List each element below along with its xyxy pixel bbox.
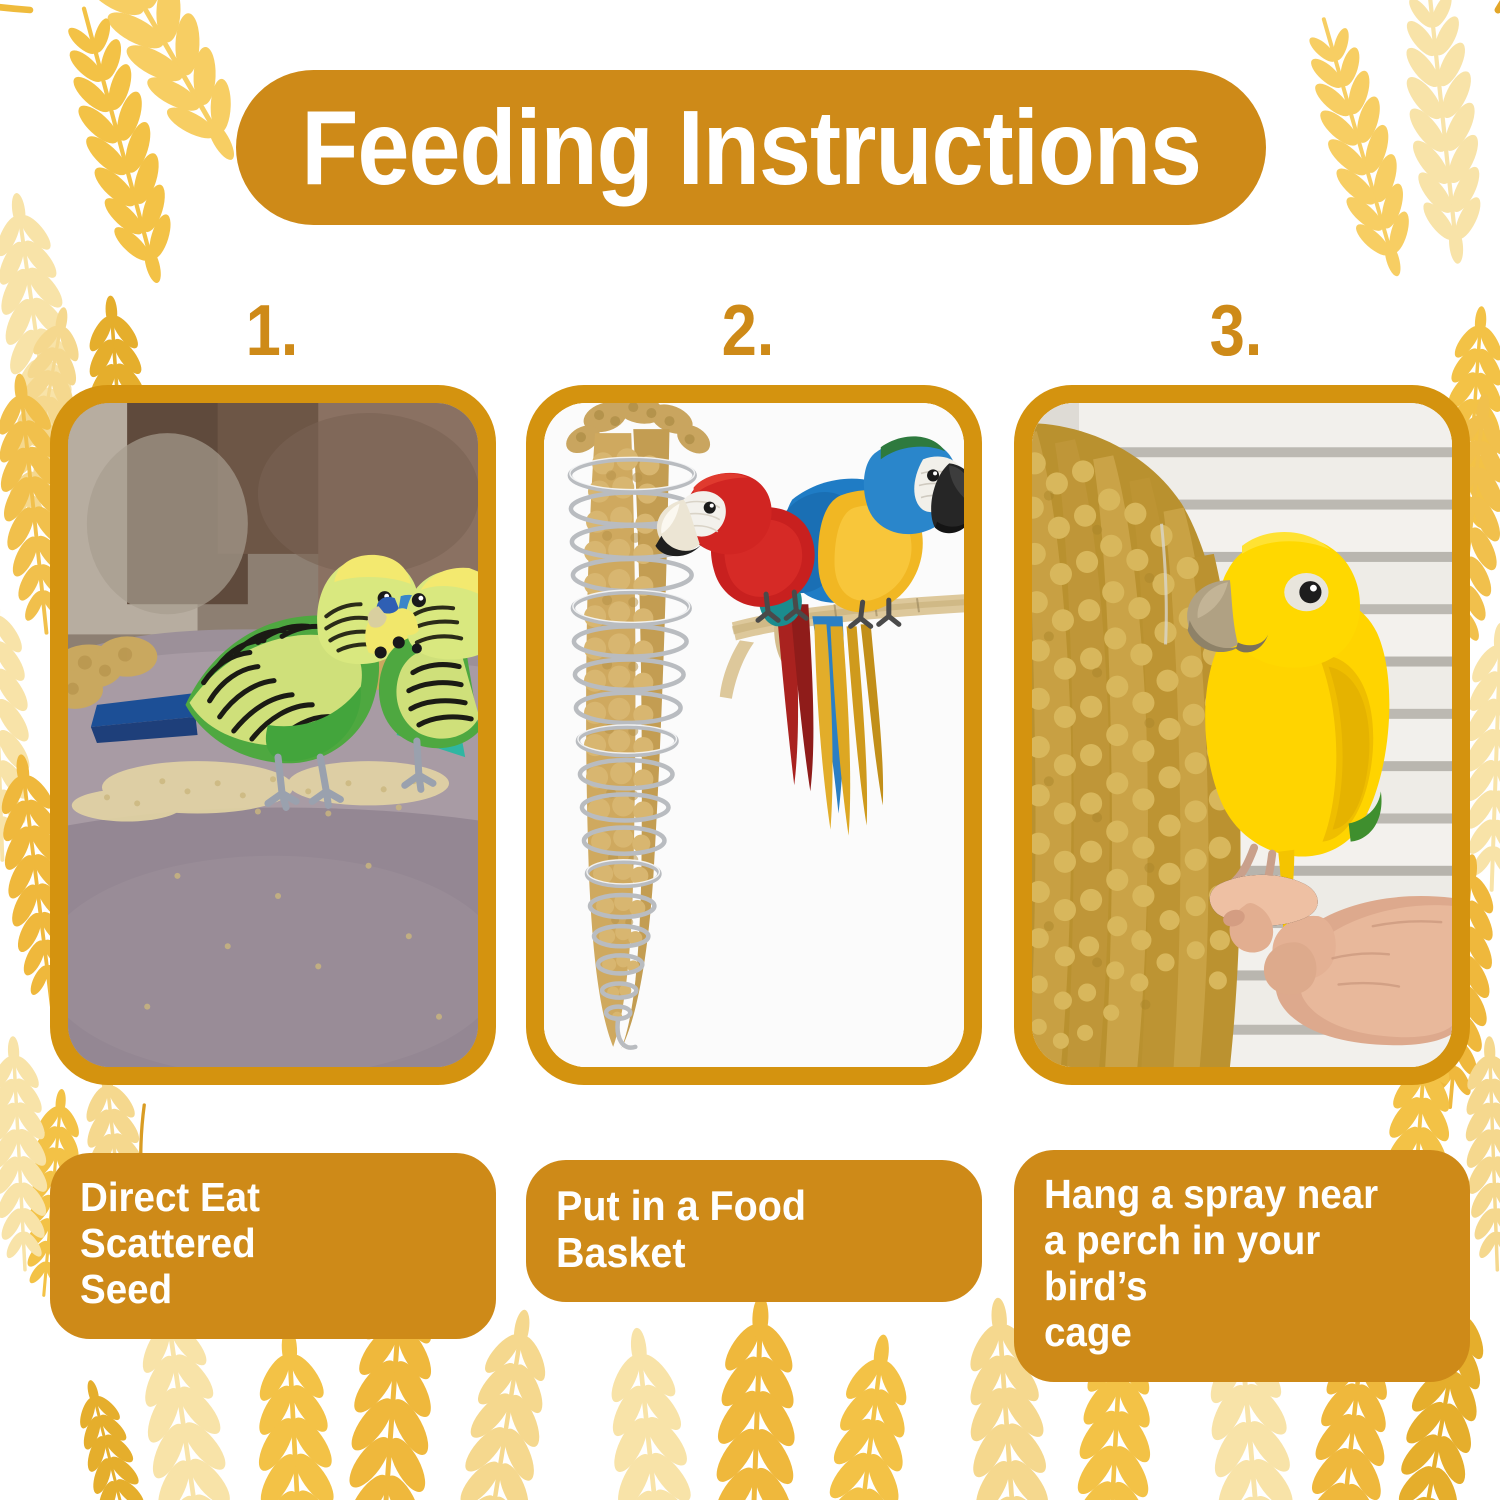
step-photo-frame-1 [50, 385, 496, 1085]
step-caption-pill-3: Hang a spray near a perch in your bird’s… [1014, 1150, 1470, 1382]
feeding-instructions-infographic: Feeding Instructions 1. [0, 0, 1500, 1500]
step-column-3: 3. [1006, 0, 1466, 1500]
step-column-2: 2. [518, 0, 978, 1500]
step-caption-2: Put in a Food Basket [556, 1182, 928, 1276]
step-caption-1: Direct Eat Scattered Seed [80, 1175, 443, 1313]
yellow-conure-on-hand-eating-hanging-millet-sprays [1032, 403, 1452, 1067]
step-photo-frame-2 [526, 385, 982, 1085]
step-column-1: 1. [42, 0, 502, 1500]
two-budgerigars-eating-scattered-seed-on-rock [68, 403, 478, 1067]
step-number-3: 3. [1034, 295, 1439, 367]
step-number-2: 2. [546, 295, 951, 367]
step-caption-3: Hang a spray near a perch in your bird’s… [1044, 1172, 1416, 1356]
page-title: Feeding Instructions [301, 95, 1201, 201]
step-caption-pill-2: Put in a Food Basket [526, 1160, 982, 1302]
step-caption-pill-1: Direct Eat Scattered Seed [50, 1153, 496, 1339]
steps-container: 1. [0, 0, 1500, 1500]
step-photo-frame-3 [1014, 385, 1470, 1085]
spiral-wire-food-basket-with-millet-and-two-macaws [544, 403, 964, 1067]
step-number-1: 1. [70, 295, 475, 367]
page-title-pill: Feeding Instructions [236, 70, 1266, 225]
